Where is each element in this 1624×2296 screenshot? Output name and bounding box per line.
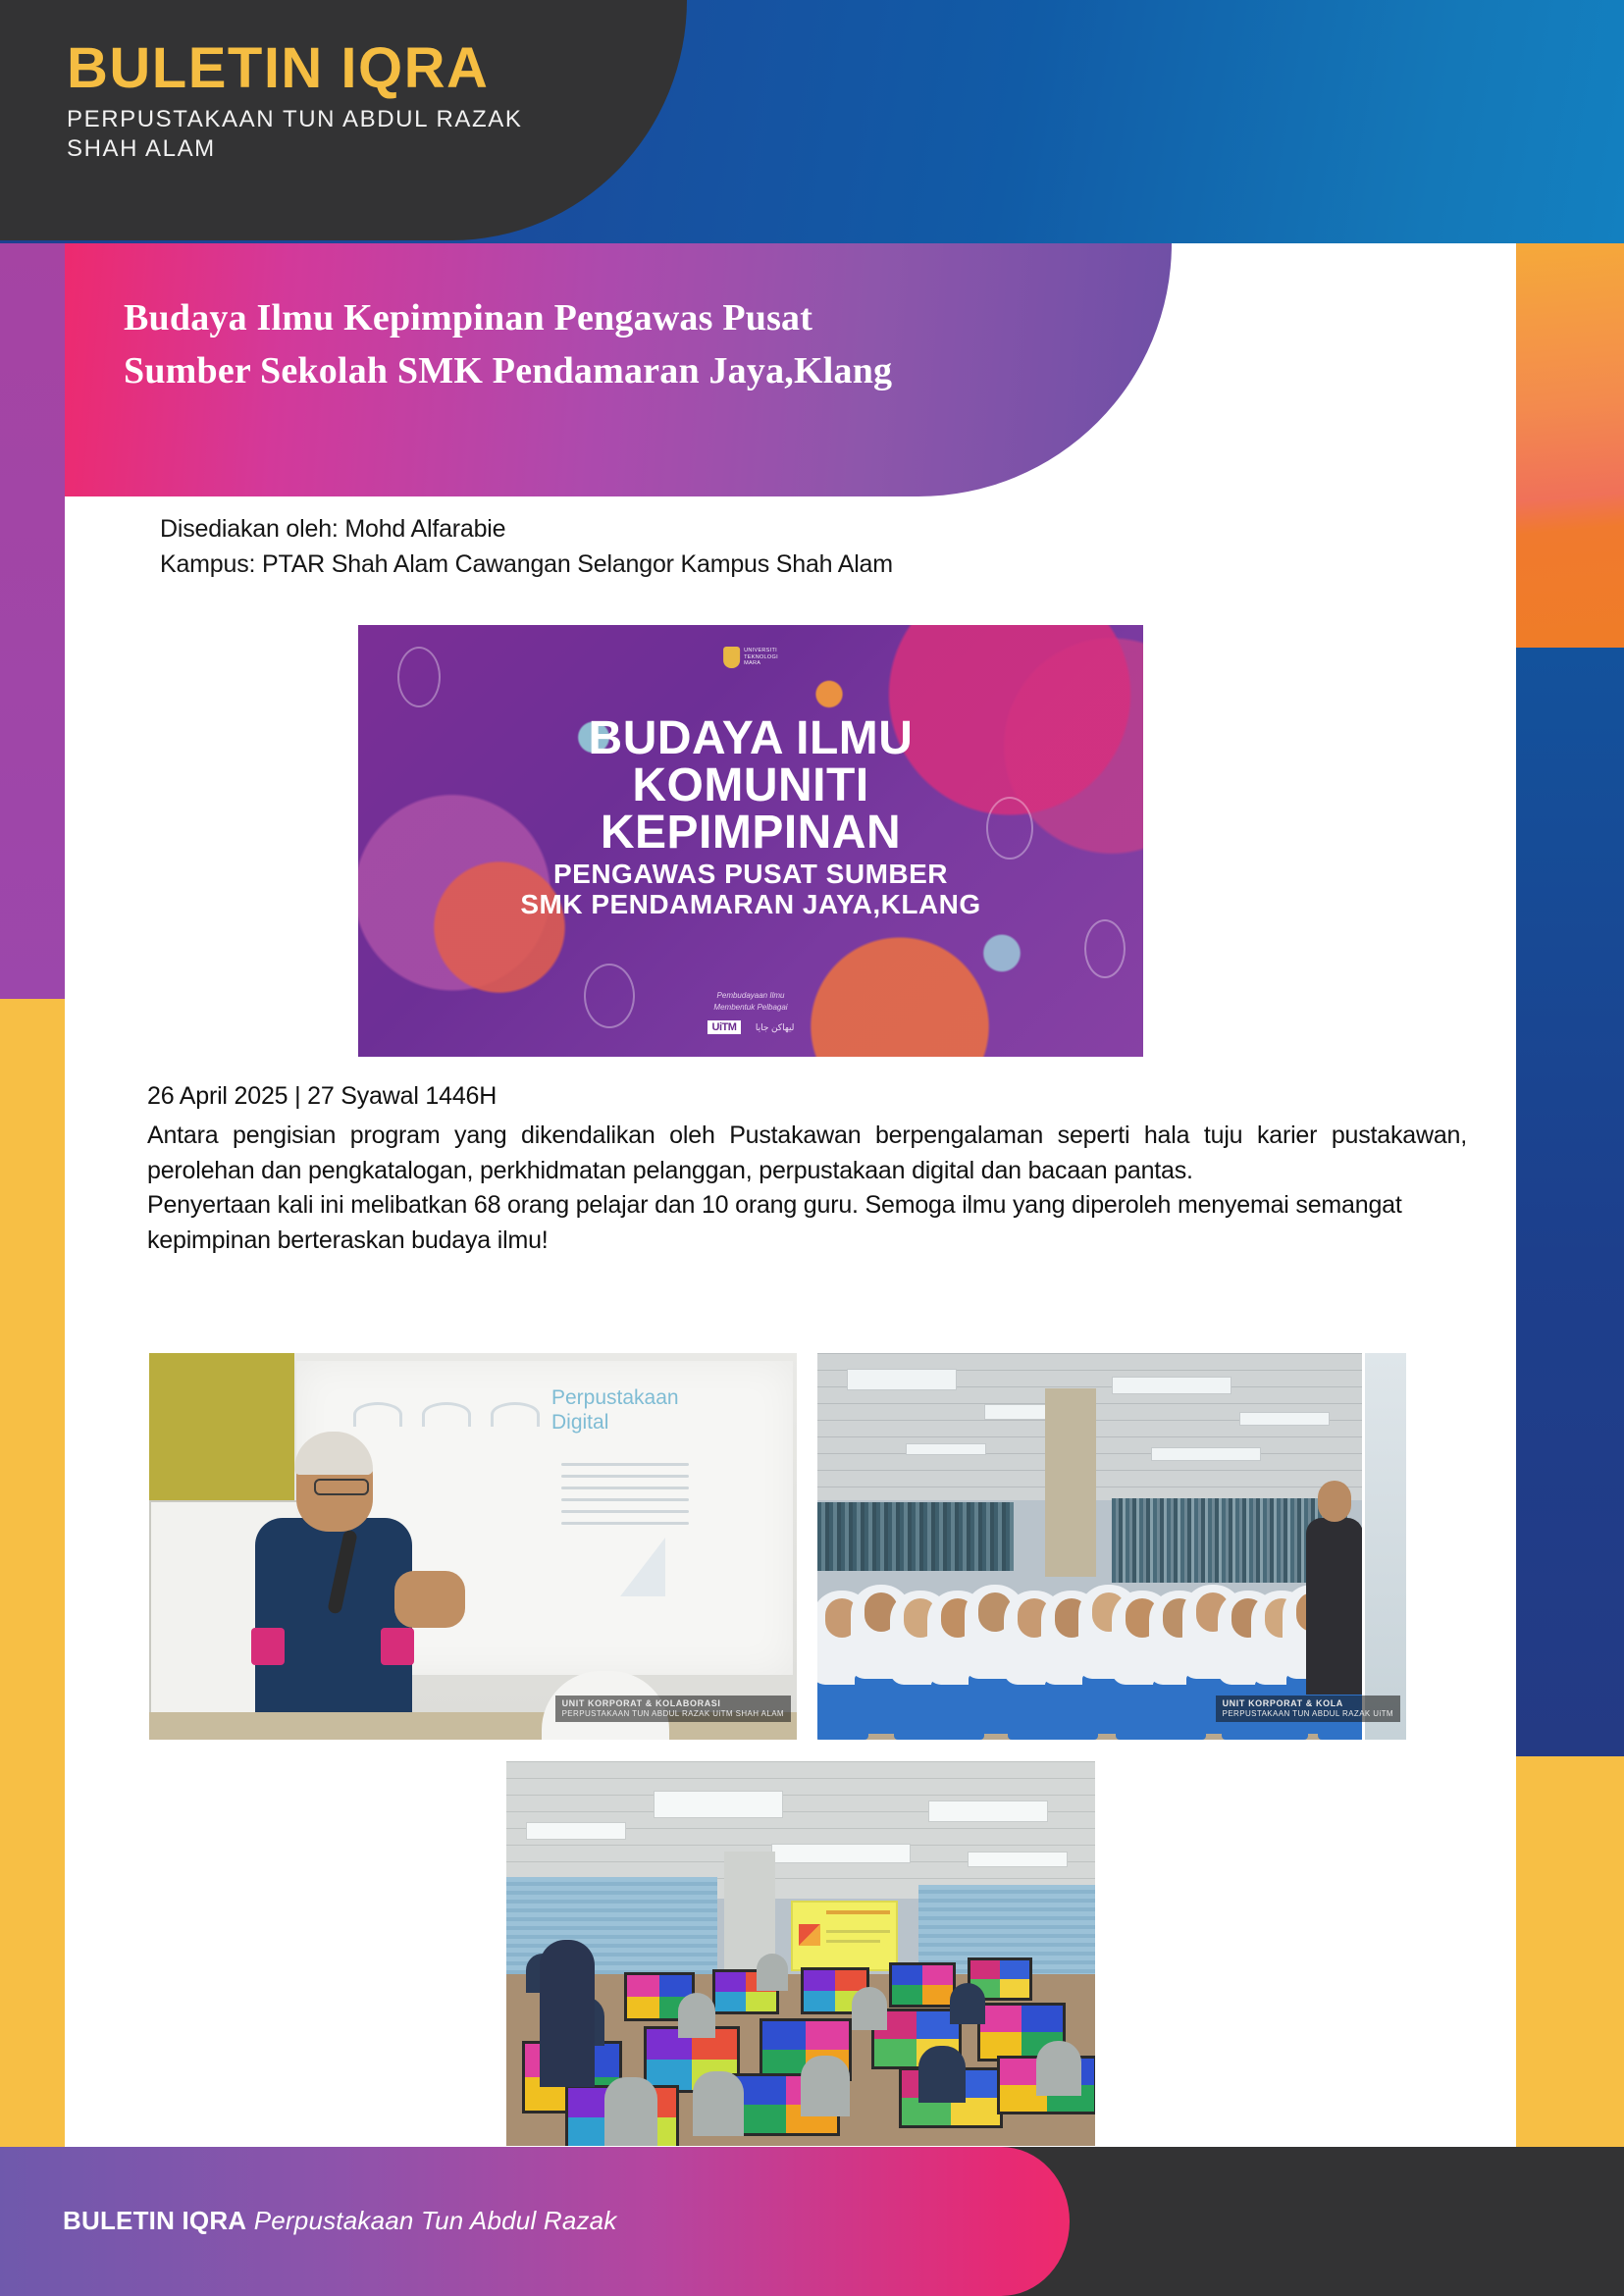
photo3-standing-teacher [540,1940,595,2087]
article-title-line2: Sumber Sekolah SMK Pendamaran Jaya,Klang [124,345,1105,398]
left-gold-band [0,999,65,2147]
photo-computer-lab [506,1761,1095,2146]
photo2-watermark-line2: PERPUSTAKAAN TUN ABDUL RAZAK UiTM [1223,1709,1393,1718]
masthead-subtitle-line2: SHAH ALAM [67,134,675,164]
article-title-line1: Budaya Ilmu Kepimpinan Pengawas Pusat [124,292,1105,345]
photo1-slide-title-line2: Digital [551,1411,679,1435]
poster-ring-decor [397,647,441,707]
article-paragraph-2: Penyertaan kali ini melibatkan 68 orang … [147,1188,1467,1258]
right-blue-band [1516,648,1624,1756]
photo-speaker-presentation: Perpustakaan Digital UNIT KORPORAT & KOL… [149,1353,797,1740]
photo3-student [678,1993,715,2038]
uitm-logo-text: UNIVERSITI TEKNOLOGI MARA [744,648,778,668]
uitm-logo-line1: UNIVERSITI [744,648,778,654]
credits-prepared-by: Disediakan oleh: Mohd Alfarabie [160,512,1318,548]
photo3-student [604,2077,657,2146]
photo2-glass-door [1362,1353,1406,1740]
poster-ring-decor [1084,919,1126,978]
poster-line-2: KOMUNITI [358,762,1143,809]
photo2-teacher [1306,1518,1363,1695]
photo2-watermark: UNIT KORPORAT & KOLA PERPUSTAKAAN TUN AB… [1216,1696,1400,1722]
photo3-student [852,1987,887,2030]
photo1-watermark: UNIT KORPORAT & KOLABORASI PERPUSTAKAAN … [555,1696,791,1722]
photo1-speaker-arm [394,1571,465,1628]
photo3-student [757,1954,788,1991]
photo1-watermark-line2: PERPUSTAKAAN TUN ABDUL RAZAK UiTM SHAH A… [562,1709,784,1718]
event-poster-image: UNIVERSITI TEKNOLOGI MARA BUDAYA ILMU KO… [358,625,1143,1057]
photo3-student [950,1983,985,2024]
photo1-watermark-line1: UNIT KORPORAT & KOLABORASI [562,1698,784,1709]
photo2-ceiling [817,1353,1406,1500]
poster-line-4: PENGAWAS PUSAT SUMBER [358,859,1143,889]
poster-line-3: KEPIMPINAN [358,809,1143,857]
footer-brand: BULETIN IQRA [63,2206,246,2235]
slide-arc-decor [353,1402,402,1427]
article-date: 26 April 2025 | 27 Syawal 1446H [147,1082,497,1111]
poster-line-5: SMK PENDAMARAN JAYA,KLANG [358,889,1143,919]
slide-arc-decor [422,1402,471,1427]
masthead-text: BULETIN IQRA PERPUSTAKAAN TUN ABDUL RAZA… [67,39,675,163]
poster-headline: BUDAYA ILMU KOMUNITI KEPIMPINAN PENGAWAS… [358,715,1143,920]
photo1-notice-board [149,1353,294,1510]
article-body: Antara pengisian program yang dikendalik… [147,1119,1467,1258]
photo1-speaker-glasses [314,1479,369,1495]
slide-arc-decor [491,1402,540,1427]
photo1-slide-bullets [561,1463,689,1534]
masthead-subtitle: PERPUSTAKAAN TUN ABDUL RAZAK SHAH ALAM [67,105,675,163]
photo3-projector-screen [791,1901,898,1971]
poster-brand-row: UiTM ليهاكن جايا [358,1018,1143,1035]
photo3-monitor [889,1962,956,2008]
photo1-slide-title: Perpustakaan Digital [551,1386,679,1435]
slide-triangle-decor [620,1538,665,1596]
masthead-title: BULETIN IQRA [67,39,675,97]
crest-shape-icon [723,647,740,668]
footer-text: BULETIN IQRA Perpustakaan Tun Abdul Raza… [63,2206,617,2236]
photo3-student [801,2056,850,2116]
photo3-student [693,2071,744,2136]
poster-line-1: BUDAYA ILMU [358,715,1143,762]
photo2-watermark-line1: UNIT KORPORAT & KOLA [1223,1698,1393,1709]
footer-tagline: Perpustakaan Tun Abdul Razak [246,2206,616,2235]
masthead-subtitle-line1: PERPUSTAKAAN TUN ABDUL RAZAK [67,105,675,134]
poster-tagline-line2: Membentuk Pelbagai [358,1002,1143,1014]
poster-tagline-line1: Pembudayaan Ilmu [358,990,1143,1002]
right-gold-band [1516,1756,1624,2149]
credits-block: Disediakan oleh: Mohd Alfarabie Kampus: … [160,512,1318,582]
uitm-logo-line2: TEKNOLOGI [744,654,778,661]
photo1-sleeve-left [251,1628,285,1665]
credits-campus: Kampus: PTAR Shah Alam Cawangan Selangor… [160,548,1318,583]
poster-uitm-badge: UiTM [707,1020,742,1034]
photo1-sleeve-right [381,1628,414,1665]
newsletter-page: BULETIN IQRA PERPUSTAKAAN TUN ABDUL RAZA… [0,0,1624,2296]
poster-tagline: Pembudayaan Ilmu Membentuk Pelbagai [358,990,1143,1013]
photo1-slide-title-line1: Perpustakaan [551,1386,679,1411]
right-orange-band [1516,243,1624,651]
uitm-crest-icon: UNIVERSITI TEKNOLOGI MARA [723,647,778,668]
photo3-student [1036,2041,1081,2096]
photo3-student [918,2046,966,2103]
photo-students-library: UNIT KORPORAT & KOLA PERPUSTAKAAN TUN AB… [817,1353,1406,1740]
poster-jawi-text: ليهاكن جايا [756,1022,795,1033]
article-title: Budaya Ilmu Kepimpinan Pengawas Pusat Su… [124,292,1105,398]
left-purple-band [0,243,65,999]
article-title-banner: Budaya Ilmu Kepimpinan Pengawas Pusat Su… [65,243,1172,496]
uitm-logo-line3: MARA [744,660,778,667]
article-paragraph-1: Antara pengisian program yang dikendalik… [147,1122,1467,1184]
